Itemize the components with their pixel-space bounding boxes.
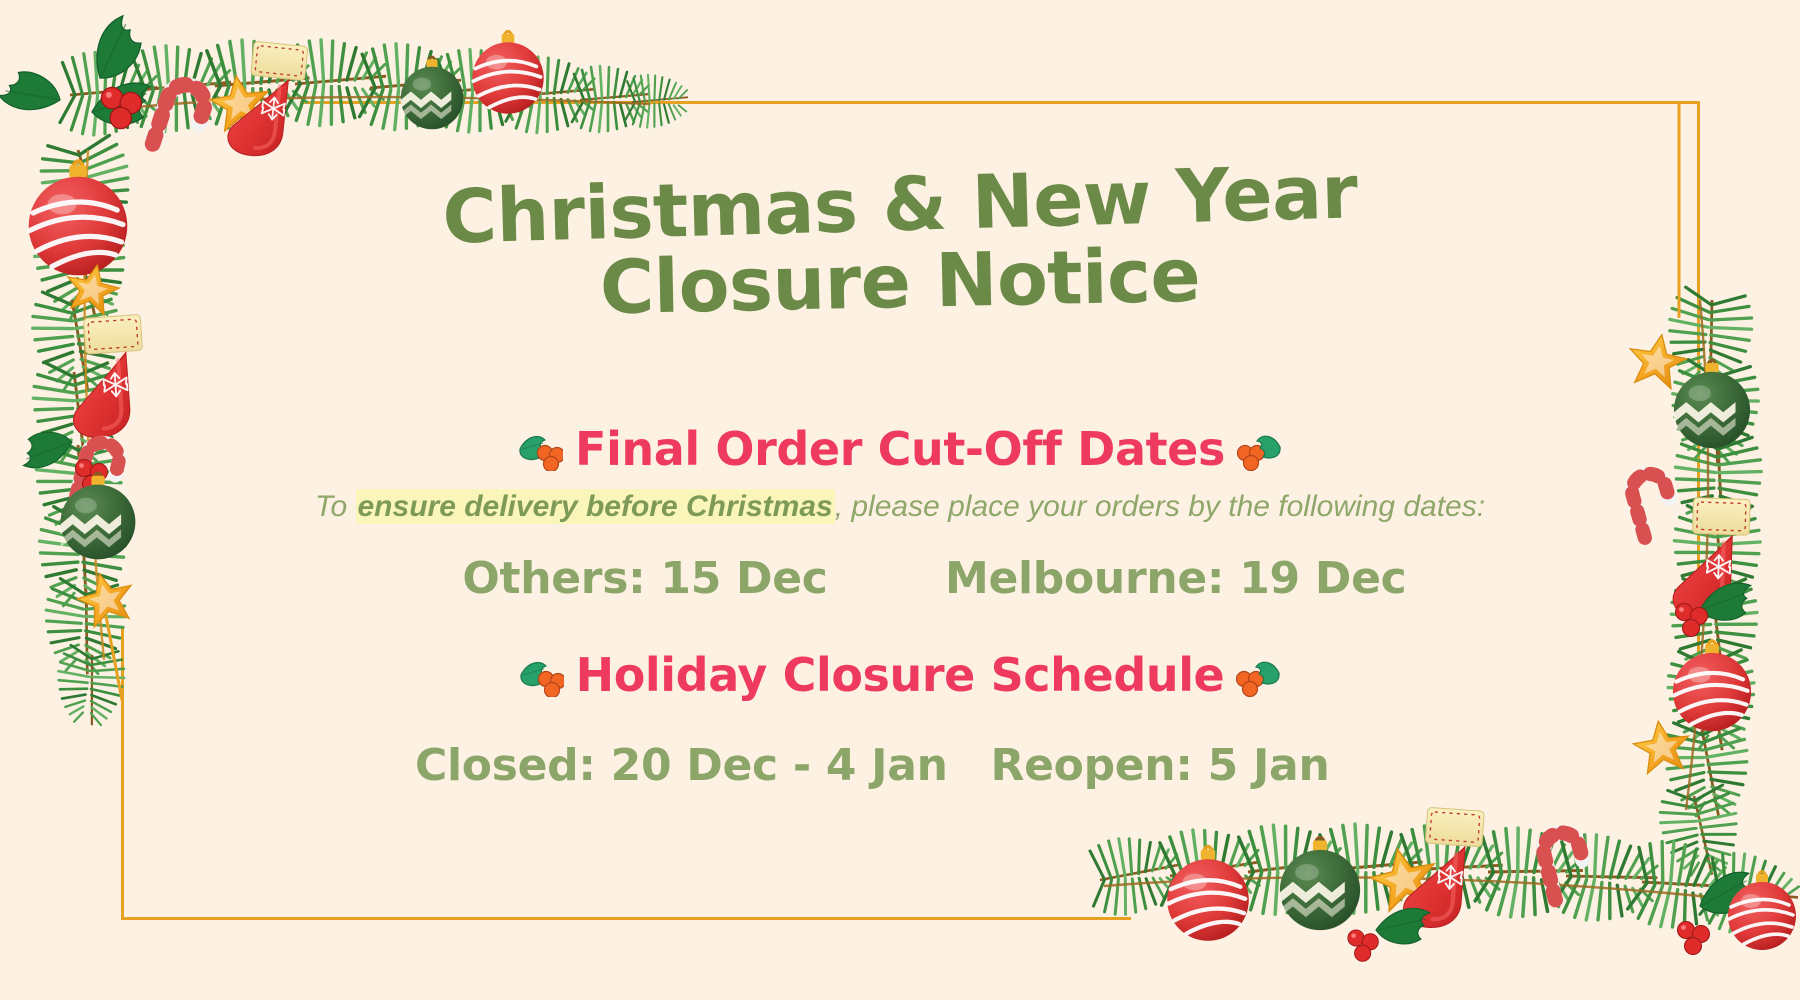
cutoff-dates-row: Others: 15 Dec Melbourne: 19 Dec <box>160 553 1640 604</box>
deco-right-edge <box>1625 102 1763 881</box>
row-spacer <box>865 740 935 791</box>
holly-berry-icon <box>517 428 563 482</box>
closure-dates-row: Closed: 20 Dec - 4 Jan Reopen: 5 Jan <box>160 740 1640 791</box>
subtitle-after: , please place your orders by the follow… <box>835 490 1485 523</box>
section-heading-cutoff: Final Order Cut-Off Dates <box>160 422 1640 482</box>
section-heading-closure-label: Holiday Closure Schedule <box>576 648 1225 702</box>
holly-berry-icon <box>518 654 564 708</box>
page-title: Christmas & New Year Closure Notice <box>160 168 1640 321</box>
holly-berry-icon <box>1237 428 1283 482</box>
cutoff-date-others: Others: 15 Dec <box>435 553 855 604</box>
section-heading-cutoff-label: Final Order Cut-Off Dates <box>575 422 1225 476</box>
frame-rule-right <box>1697 101 1700 661</box>
frame-rule-left <box>121 628 124 920</box>
closure-date-reopen: Reopen: 5 Jan <box>935 740 1385 791</box>
cutoff-subtitle: To ensure delivery before Christmas, ple… <box>160 490 1640 524</box>
row-spacer <box>855 553 945 604</box>
subtitle-before: To <box>315 490 356 523</box>
closure-notice-poster: Christmas & New Year Closure Notice Fina… <box>0 0 1800 1000</box>
notice-content: Christmas & New Year Closure Notice Fina… <box>160 0 1640 1000</box>
section-heading-closure: Holiday Closure Schedule <box>160 648 1640 708</box>
deco-left-edge <box>17 315 149 700</box>
holly-berry-icon <box>1236 654 1282 708</box>
cutoff-date-melbourne: Melbourne: 19 Dec <box>945 553 1365 604</box>
closure-date-closed: Closed: 20 Dec - 4 Jan <box>415 740 865 791</box>
subtitle-highlight: ensure delivery before Christmas <box>356 489 835 524</box>
